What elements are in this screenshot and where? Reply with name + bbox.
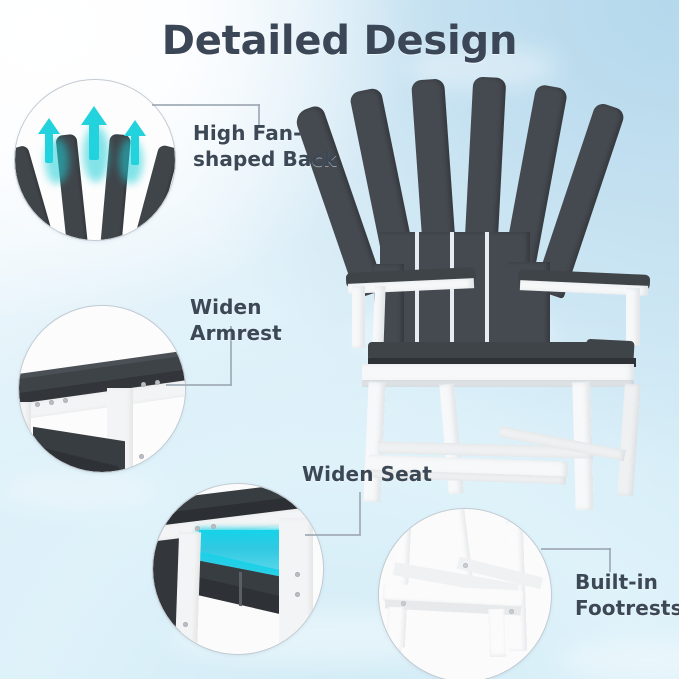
callout-circle-seat (152, 483, 324, 655)
callout-circle-fan-back (14, 79, 176, 241)
callout-label-footrest: Built-in Footrests (575, 569, 679, 621)
product-chair-illustration (338, 72, 648, 472)
callout-label-seat: Widen Seat (302, 461, 472, 487)
cloud-wisp (0, 470, 160, 510)
infographic-canvas: Detailed Design (0, 0, 679, 679)
callout-label-fan-back: High Fan- shaped Back (193, 120, 373, 172)
callout-label-armrest: Widen Armrest (190, 294, 360, 346)
cloud-wisp (560, 640, 679, 679)
callout-circle-footrest (378, 508, 552, 679)
callout-circle-armrest (18, 305, 186, 473)
page-title: Detailed Design (0, 18, 679, 64)
